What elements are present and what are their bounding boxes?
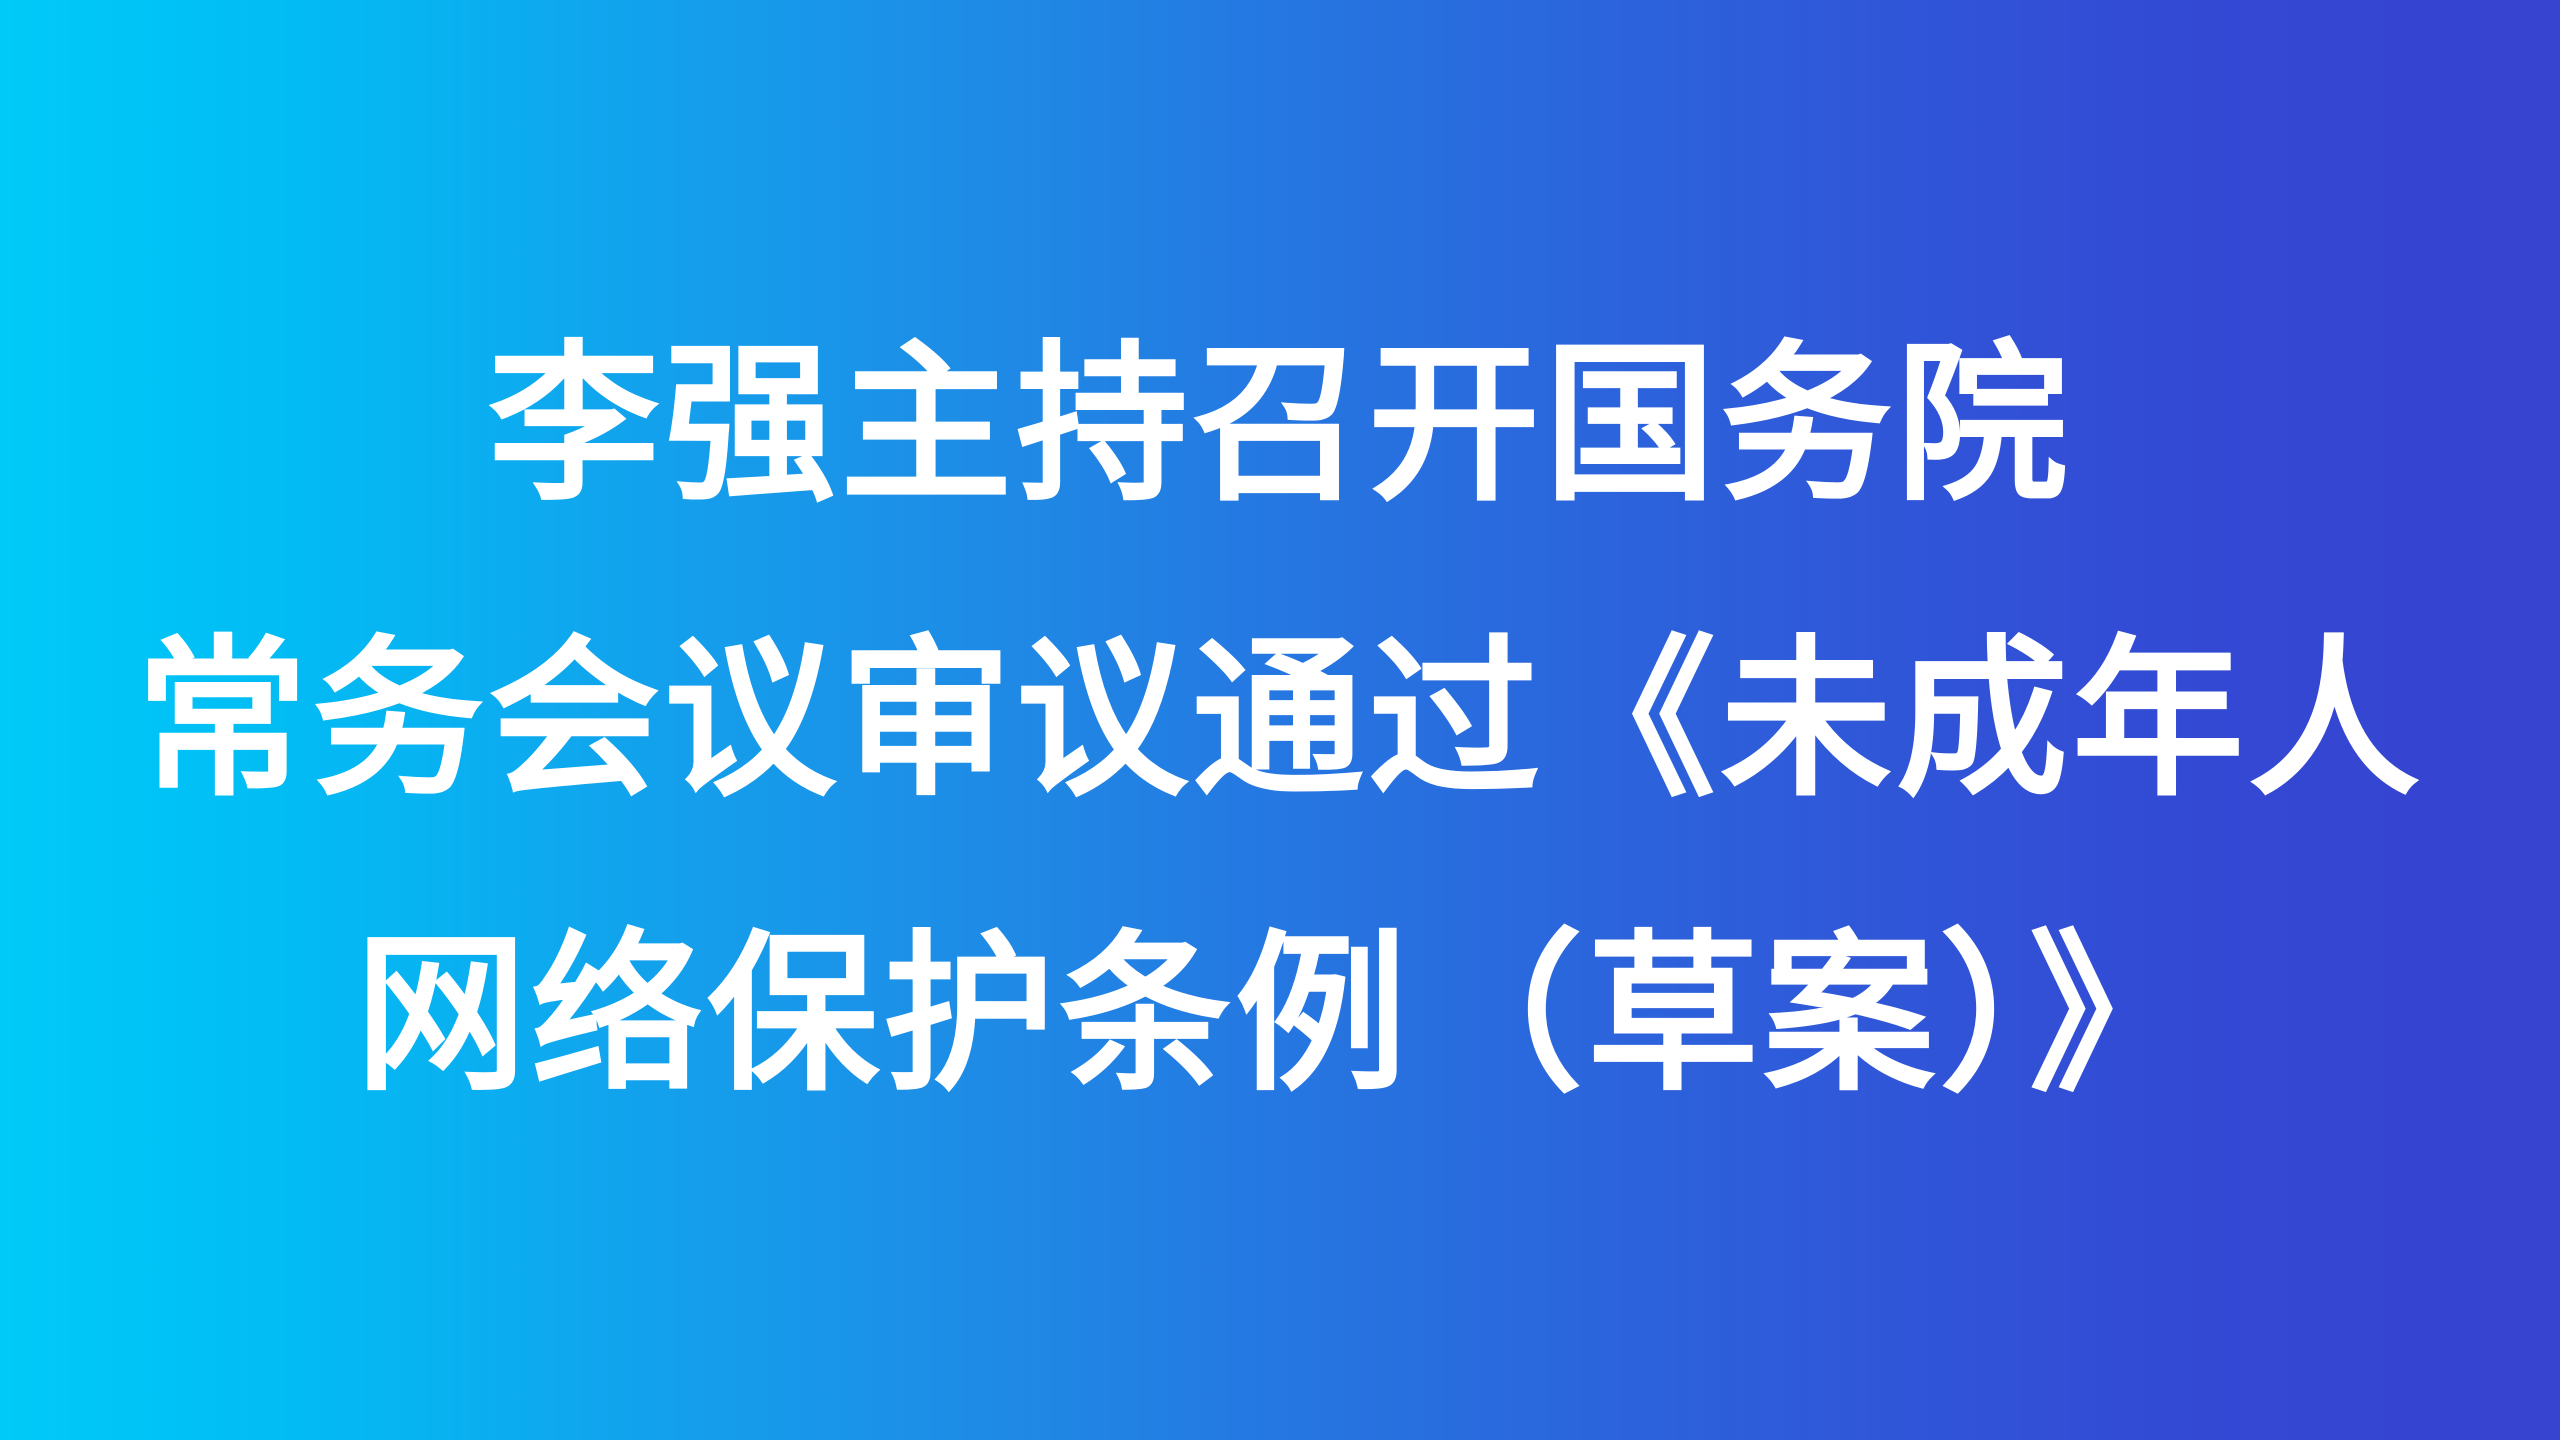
headline-line-2: 常务会议审议通过《未成年人 <box>40 573 2520 868</box>
headline-line-1: 李强主持召开国务院 <box>40 278 2520 573</box>
news-headline-card: 李强主持召开国务院 常务会议审议通过《未成年人 网络保护条例（草案）》 <box>0 0 2560 1440</box>
headline-line-3: 网络保护条例（草案）》 <box>40 868 2520 1163</box>
headline-text-block: 李强主持召开国务院 常务会议审议通过《未成年人 网络保护条例（草案）》 <box>0 278 2560 1163</box>
